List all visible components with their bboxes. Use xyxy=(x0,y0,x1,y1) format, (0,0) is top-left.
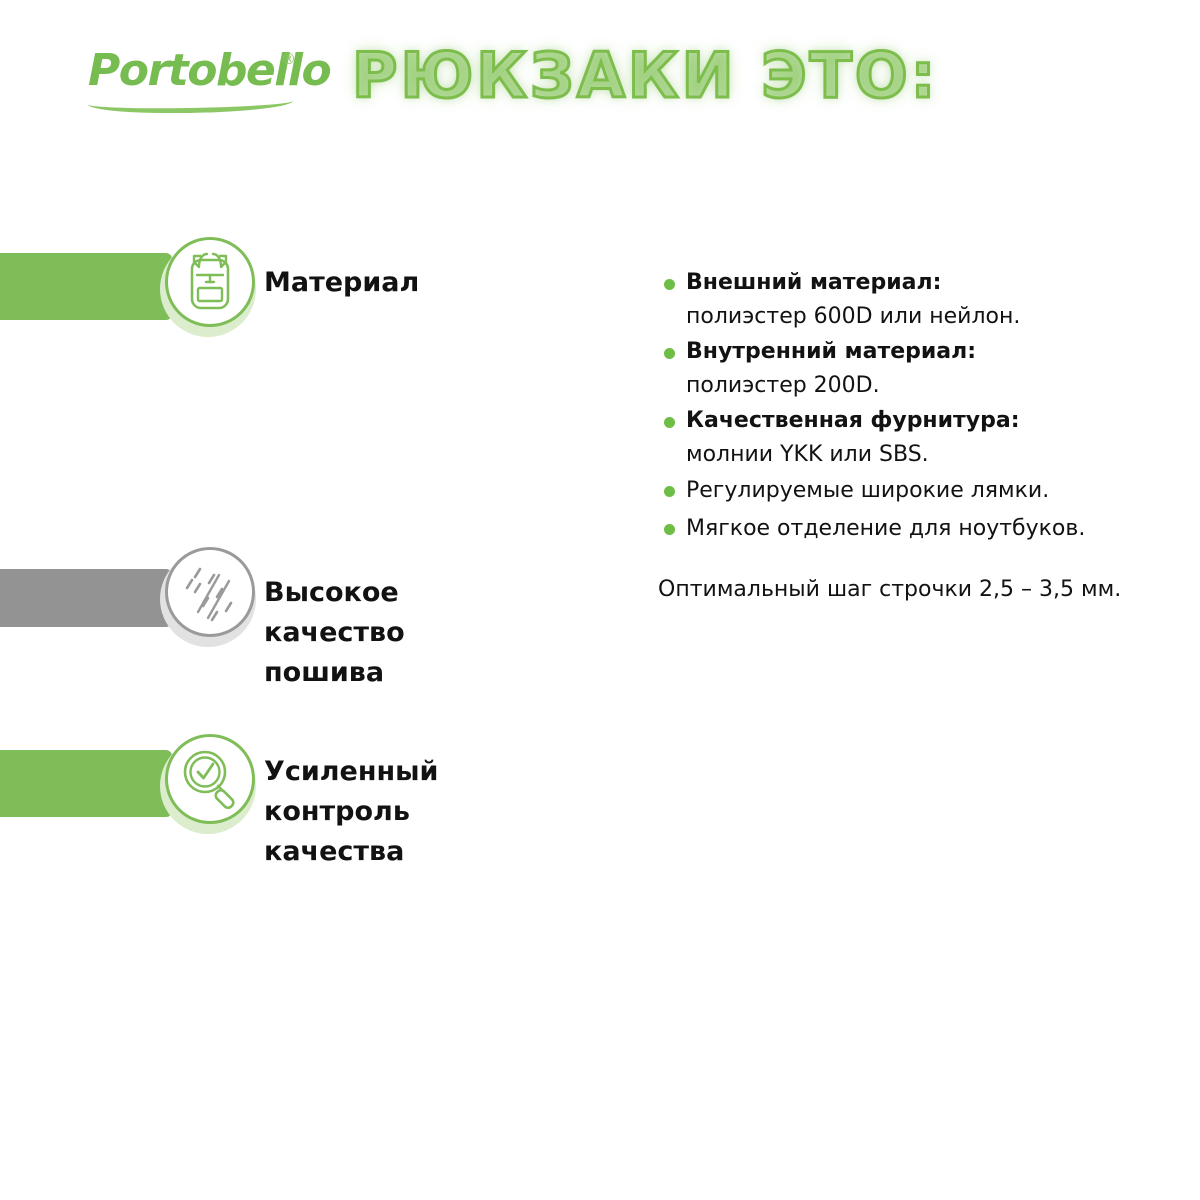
backpack-icon xyxy=(168,240,252,324)
row-material-bar xyxy=(0,253,172,320)
list-item: Регулируемые широкие лямки. xyxy=(660,473,1160,509)
material-bullet-list: Внешний материал: полиэстер 600D или ней… xyxy=(660,266,1160,549)
bullet-detail: Мягкое отделение для ноутбуков. xyxy=(686,511,1160,547)
row-stitch-quality-badge xyxy=(165,547,255,637)
registered-trademark-icon: ® xyxy=(281,50,296,68)
row-material-badge xyxy=(165,237,255,327)
list-item: Внешний материал: полиэстер 600D или ней… xyxy=(660,266,1160,333)
bullet-title: Внешний материал: xyxy=(686,266,1160,300)
page-title: РЮКЗАКИ ЭТО: xyxy=(352,40,938,112)
row-quality-control-bar xyxy=(0,750,172,817)
bullet-title: Качественная фурнитура: xyxy=(686,404,1160,438)
row-quality-control-heading: Усиленный контроль качества xyxy=(264,752,438,872)
bullet-detail: Регулируемые широкие лямки. xyxy=(686,473,1160,509)
row-stitch-quality-heading: Высокое качество пошива xyxy=(264,573,405,693)
bullet-detail: полиэстер 600D или нейлон. xyxy=(686,300,1160,333)
bullet-detail: молнии YKK или SBS. xyxy=(686,438,1160,471)
bullet-detail: полиэстер 200D. xyxy=(686,369,1160,402)
row-stitch-quality-bar xyxy=(0,569,172,627)
list-item: Мягкое отделение для ноутбуков. xyxy=(660,511,1160,547)
stitch-quality-note: Оптимальный шаг строчки 2,5 – 3,5 мм. xyxy=(658,574,1121,606)
portobello-logo: Portobello ® xyxy=(88,48,308,110)
page-header: Portobello ® РЮКЗАКИ ЭТО: xyxy=(0,0,1200,150)
row-material-heading: Материал xyxy=(264,263,419,303)
list-item: Качественная фурнитура: молнии YKK или S… xyxy=(660,404,1160,471)
stitching-icon xyxy=(168,550,252,634)
row-quality-control-badge xyxy=(165,734,255,824)
magnifier-check-icon xyxy=(168,737,252,821)
bullet-title: Внутренний материал: xyxy=(686,335,1160,369)
list-item: Внутренний материал: полиэстер 200D. xyxy=(660,335,1160,402)
